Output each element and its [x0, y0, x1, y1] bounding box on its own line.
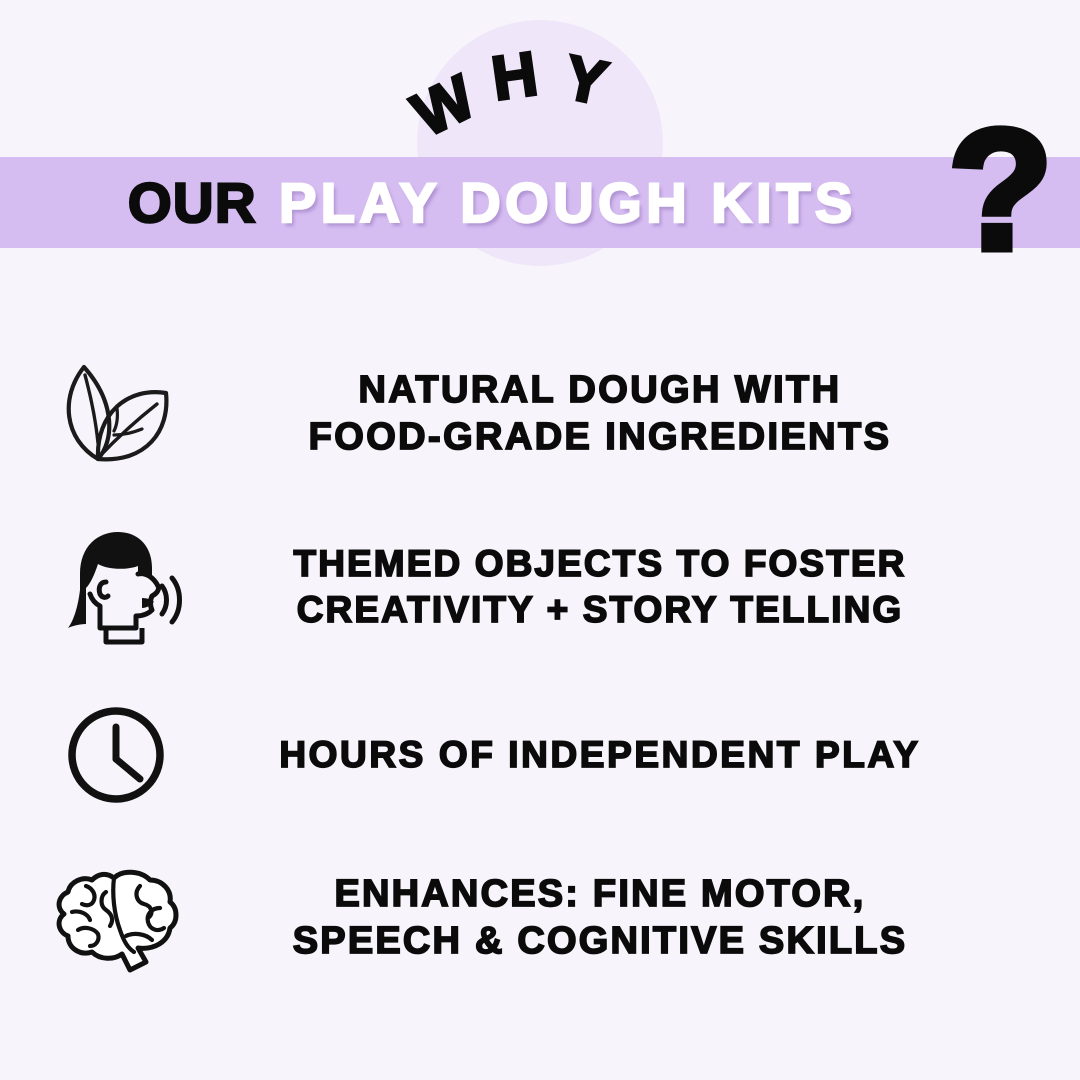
promo-graphic: W H Y OUR PLAY DOUGH KITS ?: [0, 0, 1080, 1080]
feature-row-natural-dough: NATURAL DOUGH WITH FOOD-GRADE INGREDIENT…: [0, 330, 1080, 498]
feature-line: HOURS OF INDEPENDENT PLAY: [200, 732, 1000, 778]
header-section: W H Y OUR PLAY DOUGH KITS ?: [0, 0, 1080, 300]
speaking-head-icon: [48, 528, 184, 646]
feature-line: THEMED OBJECTS TO FOSTER: [200, 541, 1000, 587]
banner-heading: OUR PLAY DOUGH KITS: [0, 157, 1080, 248]
clock-icon: [48, 696, 184, 814]
feature-row-independent-play: HOURS OF INDEPENDENT PLAY: [0, 676, 1080, 834]
feature-text-enhances-skills: ENHANCES: FINE MOTOR, SPEECH & COGNITIVE…: [200, 871, 1000, 965]
feature-line: CREATIVITY + STORY TELLING: [200, 587, 1000, 633]
feature-row-enhances-skills: ENHANCES: FINE MOTOR, SPEECH & COGNITIVE…: [0, 834, 1080, 1002]
feature-line: SPEECH & COGNITIVE SKILLS: [200, 918, 1000, 965]
feature-text-independent-play: HOURS OF INDEPENDENT PLAY: [200, 732, 1000, 778]
feature-line: FOOD-GRADE INGREDIENTS: [200, 414, 1000, 461]
feature-text-themed-objects: THEMED OBJECTS TO FOSTER CREATIVITY + ST…: [200, 541, 1000, 633]
feature-line: NATURAL DOUGH WITH: [200, 367, 1000, 414]
feature-text-natural-dough: NATURAL DOUGH WITH FOOD-GRADE INGREDIENT…: [200, 367, 1000, 461]
brain-icon: [48, 859, 184, 977]
feature-row-themed-objects: THEMED OBJECTS TO FOSTER CREATIVITY + ST…: [0, 498, 1080, 676]
banner-word-play-dough-kits: PLAY DOUGH KITS: [279, 170, 857, 235]
leaves-icon: [48, 355, 184, 473]
banner-word-our: OUR: [128, 170, 257, 235]
question-mark: ?: [948, 104, 1053, 276]
feature-list: NATURAL DOUGH WITH FOOD-GRADE INGREDIENT…: [0, 330, 1080, 1002]
feature-line: ENHANCES: FINE MOTOR,: [200, 871, 1000, 918]
